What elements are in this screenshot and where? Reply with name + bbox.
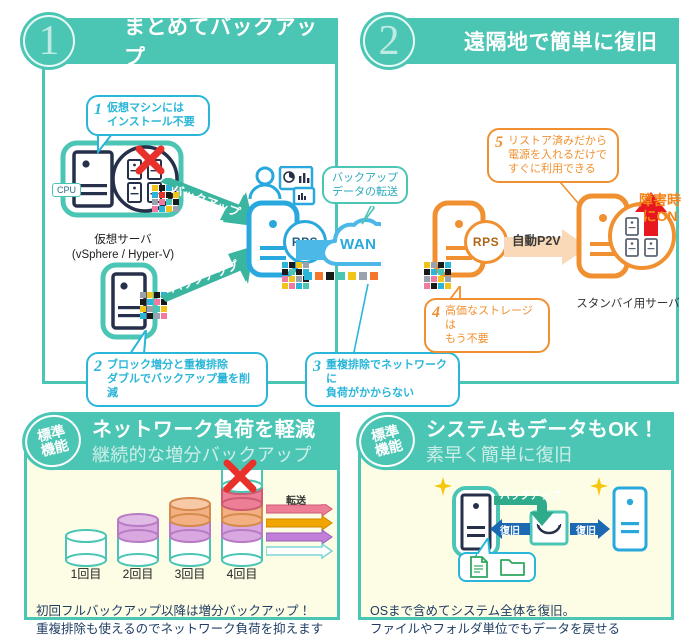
panel-top-left-header: まとめてバックアップ — [62, 18, 338, 64]
badge-line-1-right: 標準 — [370, 423, 401, 444]
power-on-tag: 障害時 にON — [630, 176, 690, 224]
restore-label-right: 復旧 — [576, 522, 596, 537]
admin-person-icon — [248, 166, 282, 200]
panel-bottom-right-subtitle-text: 素早く簡単に復旧 — [426, 445, 572, 465]
panel-number-text-2: 2 — [379, 20, 400, 62]
rps-badge-right: RPS — [464, 220, 508, 264]
callout-3-number: 3 — [313, 358, 321, 376]
restore-label-left-text: 復旧 — [500, 526, 520, 537]
transfer-label: 転送 — [286, 492, 306, 507]
callout-5: 5 リストア済みだから 電源を入れるだけで すぐに利用できる — [487, 128, 619, 183]
standby-server-label: スタンバイ用サーバ — [560, 282, 696, 312]
panel-bottom-left-subtitle-text: 継続的な増分バックアップ — [92, 445, 312, 465]
transfer-note-text: バックアップ データの転送 — [330, 171, 400, 199]
panel-top-left-number: 1 — [20, 12, 78, 70]
panel-top-left-title: まとめてバックアップ — [124, 11, 338, 71]
transfer-arrows — [266, 504, 334, 560]
callout-5-number: 5 — [495, 134, 503, 152]
wan-label-text: WAN — [340, 236, 377, 253]
callout-3-pointer — [340, 282, 380, 356]
sparkle-icon-right — [588, 476, 610, 498]
callout-1: 1 仮想マシンには インストール不要 — [86, 95, 210, 136]
callout-1-number: 1 — [94, 101, 102, 119]
rps-badge-right-text: RPS — [473, 235, 499, 249]
panel-bottom-right-title: システムもデータもOK！ — [426, 413, 659, 442]
callout-2-number: 2 — [94, 358, 102, 376]
chart-category-2-text: 2回目 — [123, 567, 154, 581]
restore-label-right-text: 復旧 — [576, 526, 596, 537]
chart-category-3: 3回目 — [166, 565, 214, 582]
chart-category-1-text: 1回目 — [71, 567, 102, 581]
standby-server-label-text: スタンバイ用サーバ — [576, 298, 679, 310]
chart-category-2: 2回目 — [114, 565, 162, 582]
chart-bar-4 — [222, 482, 262, 566]
panel-top-right-header: 遠隔地で簡単に復旧 — [402, 18, 679, 64]
backup-label-bottom-text: バックアップ — [500, 491, 560, 502]
callout-4-text: 高価なストレージは もう不要 — [445, 304, 540, 346]
panel-bottom-left-title: ネットワーク負荷を軽減 — [92, 413, 315, 442]
chart-bar-3 — [170, 498, 210, 566]
badge-line-2-right: 機能 — [373, 438, 404, 459]
chart-category-4: 4回目 — [218, 565, 266, 582]
chart-bar-1 — [66, 530, 106, 566]
chart-bar-2 — [118, 514, 158, 566]
target-server-icon — [612, 486, 648, 552]
cpu-tag: CPU — [52, 183, 81, 197]
callout-4: 4 高価なストレージは もう不要 — [424, 298, 550, 353]
file-folder-callout-tail — [470, 538, 498, 558]
backup-label-bottom: バックアップ — [500, 487, 560, 502]
callout-1-text: 仮想マシンには インストール不要 — [107, 101, 195, 129]
panel-bottom-right-subtitle: 素早く簡単に復旧 — [426, 441, 572, 467]
p2v-label: 自動P2V — [512, 230, 561, 249]
chart-category-4-text: 4回目 — [227, 567, 258, 581]
sparkle-icon-left — [432, 476, 454, 498]
callout-2-text: ブロック増分と重複排除 ダブルでバックアップ量を削減 — [107, 358, 258, 400]
panel-bottom-right-caption-text: OSまで含めてシステム全体を復旧。 ファイルやフォルダ単位でもデータを戻せる — [370, 604, 620, 636]
chart-category-3-text: 3回目 — [175, 567, 206, 581]
p2v-label-text: 自動P2V — [512, 234, 561, 248]
document-icon — [468, 556, 490, 578]
transfer-note-callout: バックアップ データの転送 — [322, 166, 408, 204]
restore-label-left: 復旧 — [500, 522, 520, 537]
panel-bottom-left-caption: 初回フルバックアップ以降は増分バックアップ！ 重複排除も使えるのでネットワーク負… — [36, 584, 336, 638]
power-on-tag-text: 障害時 にON — [639, 192, 681, 224]
panel-bottom-right-title-text: システムもデータもOK！ — [426, 419, 659, 441]
callout-5-text: リストア済みだから 電源を入れるだけで すぐに利用できる — [508, 134, 607, 176]
panel-top-right-number: 2 — [360, 12, 418, 70]
red-x-icon — [134, 144, 166, 176]
panel-bottom-left-title-text: ネットワーク負荷を軽減 — [92, 419, 315, 441]
panel-number-text: 1 — [39, 20, 60, 62]
callout-2: 2 ブロック増分と重複排除 ダブルでバックアップ量を削減 — [86, 352, 268, 407]
callout-3-text: 重複排除でネットワークに 負荷がかからない — [326, 358, 450, 400]
panel-bottom-right-caption: OSまで含めてシステム全体を復旧。 ファイルやフォルダ単位でもデータを戻せる — [370, 584, 670, 638]
chart-category-1: 1回目 — [62, 565, 110, 582]
panel-bottom-left-subtitle: 継続的な増分バックアップ — [92, 441, 312, 467]
badge-line-2: 機能 — [39, 438, 70, 459]
badge-line-1: 標準 — [36, 423, 67, 444]
panel-bottom-left-caption-text: 初回フルバックアップ以降は増分バックアップ！ 重複排除も使えるのでネットワーク負… — [36, 604, 323, 636]
chart-red-x-icon — [222, 458, 258, 494]
infographic-root: まとめてバックアップ 1 1 仮想マシンには インストール不要 — [0, 0, 698, 634]
callout-4-number: 4 — [432, 304, 440, 322]
wan-label: WAN — [340, 236, 377, 253]
transfer-label-text: 転送 — [286, 496, 306, 507]
panel-top-right-title: 遠隔地で簡単に復旧 — [464, 26, 658, 56]
folder-icon — [500, 556, 526, 578]
cpu-tag-text: CPU — [57, 185, 76, 195]
callout-3: 3 重複排除でネットワークに 負荷がかからない — [305, 352, 460, 407]
